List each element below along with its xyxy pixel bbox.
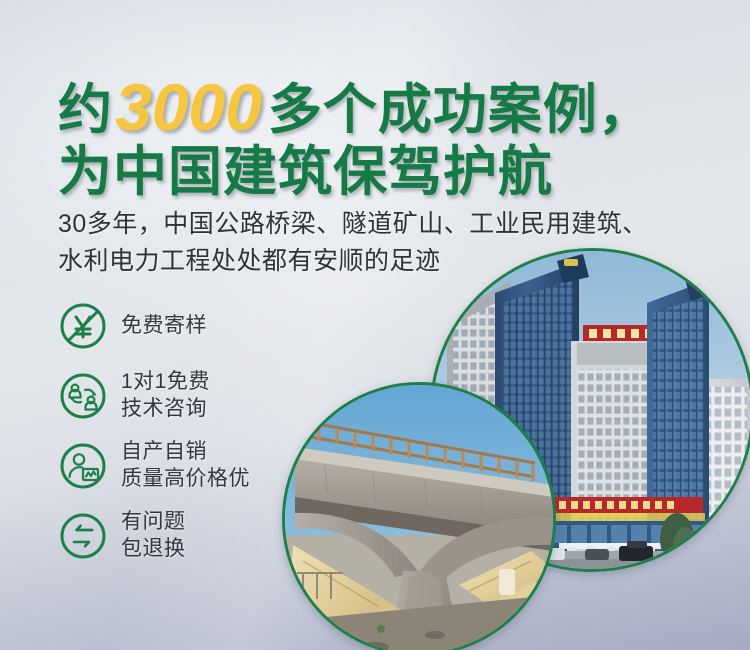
feature-label-line-1: 有问题 <box>121 509 186 536</box>
feature-label-line-1: 免费寄样 <box>121 313 207 340</box>
feature-label: 1对1免费 技术咨询 <box>121 369 210 423</box>
self-produced-person-chart-icon <box>58 441 108 491</box>
one-to-one-consult-people-icon <box>58 371 108 421</box>
feature-item-free-sample: 免费寄样 <box>58 298 318 354</box>
feature-label-line-2: 质量高价格优 <box>121 466 250 493</box>
feature-label-line-2: 包退换 <box>121 536 186 563</box>
headline-line-1: 约3000多个成功案例， <box>58 74 653 141</box>
headline-number: 3000 <box>113 74 268 141</box>
feature-item-self-produced: 自产自销 质量高价格优 <box>58 438 318 494</box>
feature-label: 免费寄样 <box>121 313 207 340</box>
headline: 约3000多个成功案例， 为中国建筑保驾护航 <box>58 74 653 200</box>
feature-label: 有问题 包退换 <box>121 509 186 563</box>
headline-prefix: 约 <box>58 80 113 140</box>
free-sample-yuan-slash-icon <box>58 301 108 351</box>
feature-label-line-2: 技术咨询 <box>121 396 210 423</box>
feature-list: 免费寄样 <box>58 298 318 578</box>
feature-item-return-exchange: 有问题 包退换 <box>58 508 318 564</box>
bridge-photo <box>282 382 556 650</box>
feature-label-line-1: 自产自销 <box>121 439 250 466</box>
headline-suffix: 多个成功案例， <box>268 80 653 140</box>
subtitle: 30多年，中国公路桥梁、隧道矿山、工业民用建筑、 水利电力工程处处都有安顺的足迹 <box>58 206 648 280</box>
promo-banner: 约3000多个成功案例， 为中国建筑保驾护航 30多年，中国公路桥梁、隧道矿山、… <box>0 0 750 650</box>
return-exchange-arrows-icon <box>58 511 108 561</box>
feature-label-line-1: 1对1免费 <box>121 369 210 396</box>
headline-line-2: 为中国建筑保驾护航 <box>58 145 653 200</box>
subtitle-line-1: 30多年，中国公路桥梁、隧道矿山、工业民用建筑、 <box>58 206 648 243</box>
subtitle-line-2: 水利电力工程处处都有安顺的足迹 <box>58 243 648 280</box>
feature-label: 自产自销 质量高价格优 <box>121 439 250 493</box>
feature-item-consult: 1对1免费 技术咨询 <box>58 368 318 424</box>
